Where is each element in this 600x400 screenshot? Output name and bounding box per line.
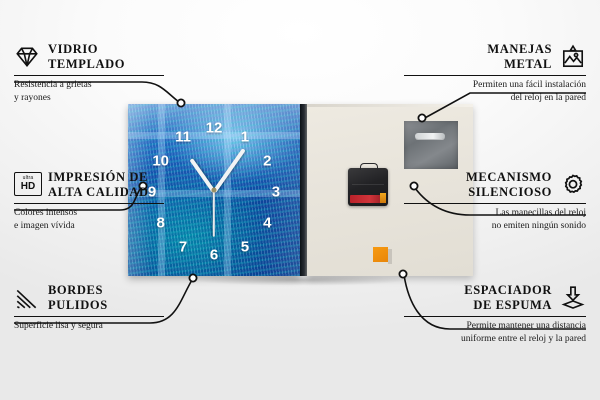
clock-numeral-12: 12 [206,121,223,136]
callout-title: VIDRIO TEMPLADO [48,42,125,72]
clock-numeral-1: 1 [241,129,249,144]
product-infographic: 12 1 2 3 4 5 6 7 8 9 10 11 [0,0,600,400]
callout-title: BORDES PULIDOS [48,283,108,313]
callout-impresion-alta-calidad: ultra HD IMPRESIÓN DE ALTA CALIDAD Color… [14,170,166,232]
callout-description: Superficie lisa y segura [14,320,166,333]
callout-title: MECANISMO SILENCIOSO [466,170,552,200]
callout-bordes-pulidos: BORDES PULIDOS Superficie lisa y segura [14,283,166,333]
polished-edges-icon [14,285,40,311]
diamond-icon [14,44,40,70]
ultra-hd-icon: ultra HD [14,172,40,198]
callout-description: Resistencia a grietas y rayones [14,79,166,104]
callout-title: MANEJAS METAL [487,42,552,72]
mechanism-hook [360,163,378,170]
clock-side-edge [300,104,307,276]
foam-spacer-arrow-icon [560,285,586,311]
hanger-slot [415,133,445,139]
hd-badge-top: ultra [23,176,34,181]
callout-manejas-metal: MANEJAS METAL Permiten una fácil instala… [402,42,586,104]
wall-mount-frame-icon [560,44,586,70]
callout-vidrio-templado: VIDRIO TEMPLADO Resistencia a grietas y … [14,42,166,104]
metal-hanger [404,121,458,169]
callout-title: IMPRESIÓN DE ALTA CALIDAD [48,170,149,200]
gear-icon [560,172,586,198]
callout-description: Permite mantener una distancia uniforme … [402,320,586,345]
hd-badge-main: HD [21,182,35,192]
clock-mechanism [348,168,388,206]
callout-espaciador-espuma: ESPACIADOR DE ESPUMA Permite mantener un… [402,283,586,345]
clock-center-pin [212,188,217,193]
clock-numeral-5: 5 [241,239,249,254]
callout-mecanismo-silencioso: MECANISMO SILENCIOSO Las manecillas del … [402,170,586,232]
foam-spacer [373,247,388,262]
clock-numeral-4: 4 [263,215,271,230]
clock-numeral-11: 11 [175,129,191,144]
callout-description: Permiten una fácil instalación del reloj… [402,79,586,104]
clock-numeral-10: 10 [152,153,169,168]
clock-second-hand [213,191,215,237]
clock-numeral-6: 6 [210,248,218,263]
callout-description: Colores intensos e imagen vívida [14,207,166,232]
clock-numeral-2: 2 [263,153,271,168]
clock-numeral-7: 7 [179,239,187,254]
battery-cap [380,193,386,203]
clock-numeral-3: 3 [272,184,280,199]
callout-description: Las manecillas del reloj no emiten ningú… [402,207,586,232]
callout-title: ESPACIADOR DE ESPUMA [464,283,552,313]
